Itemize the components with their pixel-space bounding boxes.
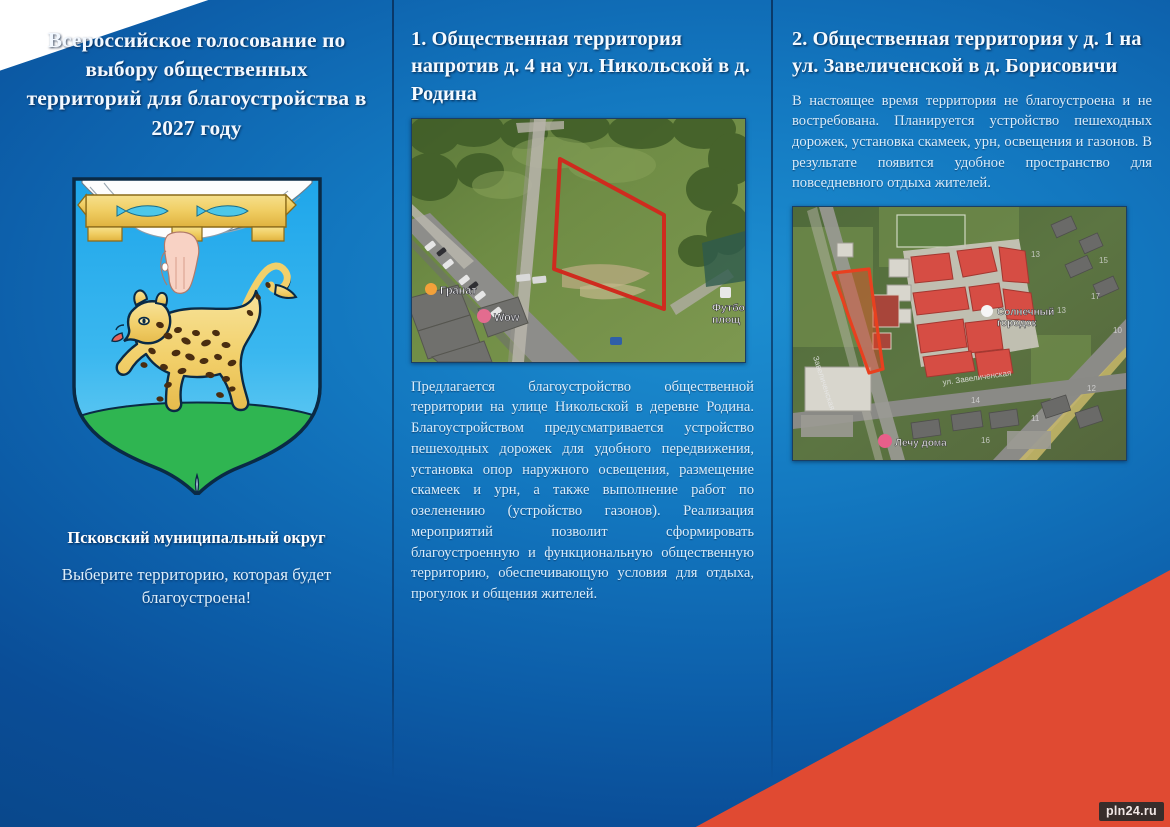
column-divider-2 xyxy=(771,0,773,780)
svg-text:16: 16 xyxy=(981,436,990,445)
column-territory-2: 2. Общественная территория у д. 1 на ул.… xyxy=(772,0,1170,827)
columns-container: Всероссийское голосование по выбору обще… xyxy=(0,0,1170,827)
column-left: Всероссийское голосование по выбору обще… xyxy=(0,0,393,827)
territory-1-title: 1. Общественная территория напротив д. 4… xyxy=(411,26,754,108)
svg-text:Лечу дома: Лечу дома xyxy=(895,438,947,449)
aerial-map-zavelichenskaya: Завеличенская ул. Завеличенская Солнечны… xyxy=(792,206,1127,461)
svg-text:13: 13 xyxy=(1057,306,1066,315)
poi-wow: Wow xyxy=(477,309,520,324)
svg-text:Футбо: Футбо xyxy=(712,302,745,314)
svg-text:Гранат: Гранат xyxy=(440,285,477,297)
svg-text:Wow: Wow xyxy=(494,312,520,324)
column-territory-1: 1. Общественная территория напротив д. 4… xyxy=(393,0,772,827)
svg-text:15: 15 xyxy=(1099,256,1108,265)
territory-2-title: 2. Общественная территория у д. 1 на ул.… xyxy=(792,26,1152,81)
svg-text:12: 12 xyxy=(1087,384,1096,393)
svg-text:Солнечный: Солнечный xyxy=(997,307,1054,318)
column-divider-1 xyxy=(392,0,394,780)
svg-text:городок: городок xyxy=(997,318,1038,329)
svg-text:17: 17 xyxy=(1091,292,1100,301)
poster-root: Всероссийское голосование по выбору обще… xyxy=(0,0,1170,827)
aerial-map-nikolskaya: Гранат Wow Футбо площ xyxy=(411,118,746,363)
page-title: Всероссийское голосование по выбору обще… xyxy=(26,26,367,143)
svg-text:10: 10 xyxy=(1113,326,1122,335)
call-to-action: Выберите территорию, которая будет благо… xyxy=(26,563,367,609)
svg-text:14: 14 xyxy=(971,396,980,405)
territory-2-description: В настоящее время территория не благоуст… xyxy=(792,91,1152,195)
svg-text:13: 13 xyxy=(1031,250,1040,259)
svg-text:11: 11 xyxy=(1031,414,1040,423)
watermark: pln24.ru xyxy=(1099,802,1164,821)
coat-of-arms xyxy=(64,173,330,495)
municipality-name: Псковский муниципальный округ xyxy=(26,527,367,549)
svg-text:площ: площ xyxy=(712,314,740,326)
territory-1-description: Предлагается благоустройство общественно… xyxy=(411,377,754,605)
